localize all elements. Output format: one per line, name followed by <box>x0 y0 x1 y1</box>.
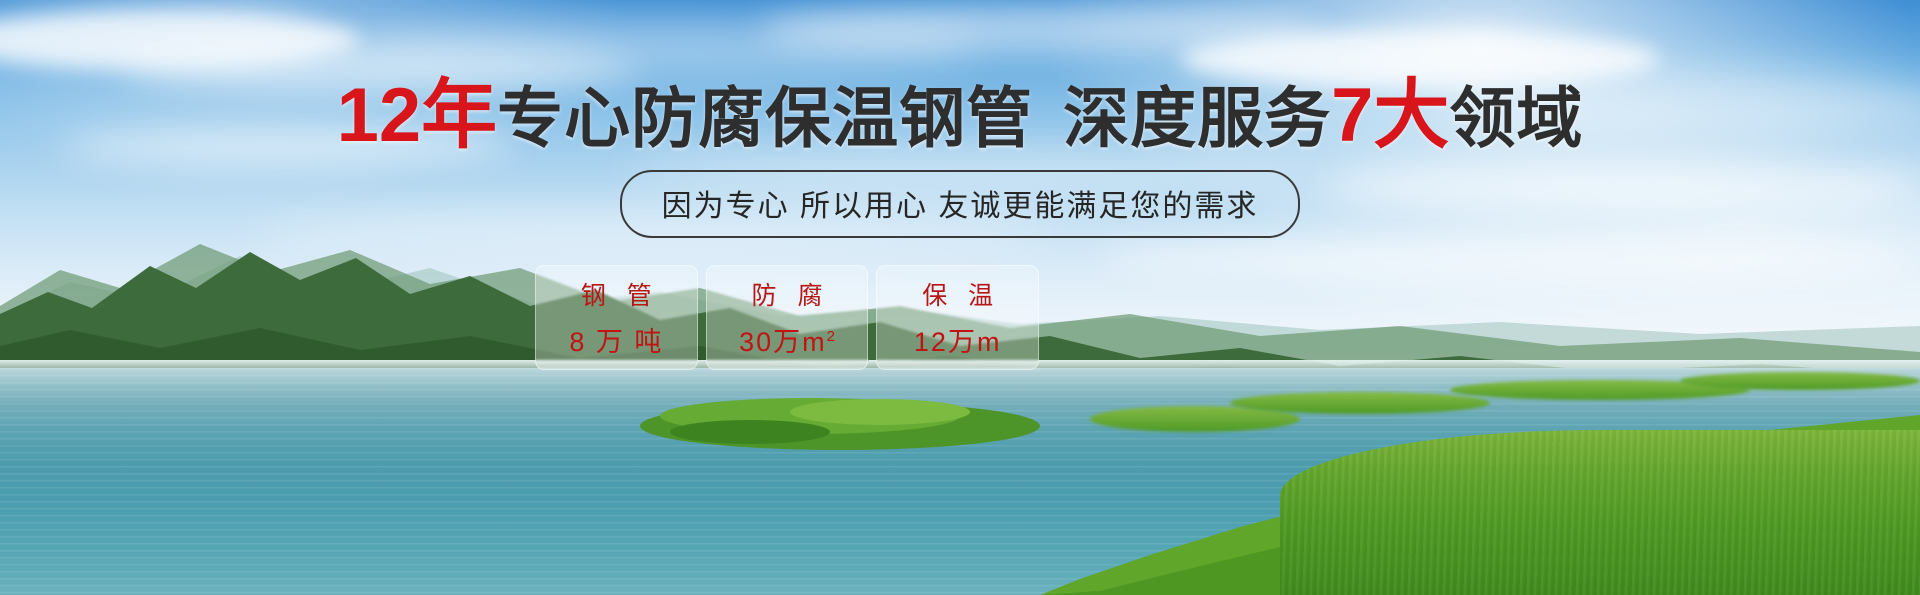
marsh-patch <box>1680 372 1920 390</box>
promo-banner: 12年专心防腐保温钢管深度服务7大领域 因为专心 所以用心 友诚更能满足您的需求… <box>0 0 1920 595</box>
stat-card: 钢 管 8 万 吨 <box>535 265 698 370</box>
stat-value-text: 8 万 吨 <box>569 327 663 357</box>
headline-seven: 7大 <box>1331 73 1449 158</box>
stat-card: 防 腐 30万m2 <box>706 265 869 370</box>
headline-fields: 领域 <box>1449 81 1583 155</box>
subtitle-container: 因为专心 所以用心 友诚更能满足您的需求 <box>0 170 1920 238</box>
grass-blade-texture <box>1280 430 1920 595</box>
stat-card-label: 钢 管 <box>574 276 659 312</box>
stat-card-label: 保 温 <box>915 276 1000 312</box>
page-title: 12年专心防腐保温钢管深度服务7大领域 <box>0 78 1920 154</box>
stat-card: 保 温 12万m <box>876 265 1039 370</box>
stat-value-superscript: 2 <box>827 328 835 345</box>
stat-card-value: 30万m2 <box>739 320 835 359</box>
grass-island <box>630 386 1050 454</box>
headline-service: 深度服务 <box>1063 81 1331 155</box>
headline-main: 专心防腐保温钢管 <box>497 81 1033 155</box>
stat-card-value: 12万m <box>914 320 1002 359</box>
stat-value-text: 30万m <box>739 327 827 357</box>
stat-card-label: 防 腐 <box>745 276 830 312</box>
stat-card-value: 8 万 吨 <box>569 320 663 359</box>
stat-value-text: 12万m <box>914 327 1002 357</box>
stats-card-group: 钢 管 8 万 吨 防 腐 30万m2 保 温 12万m <box>535 265 1039 370</box>
marsh-patch <box>1230 392 1490 414</box>
headline-years: 12年 <box>337 73 498 158</box>
subtitle-pill: 因为专心 所以用心 友诚更能满足您的需求 <box>620 170 1301 238</box>
